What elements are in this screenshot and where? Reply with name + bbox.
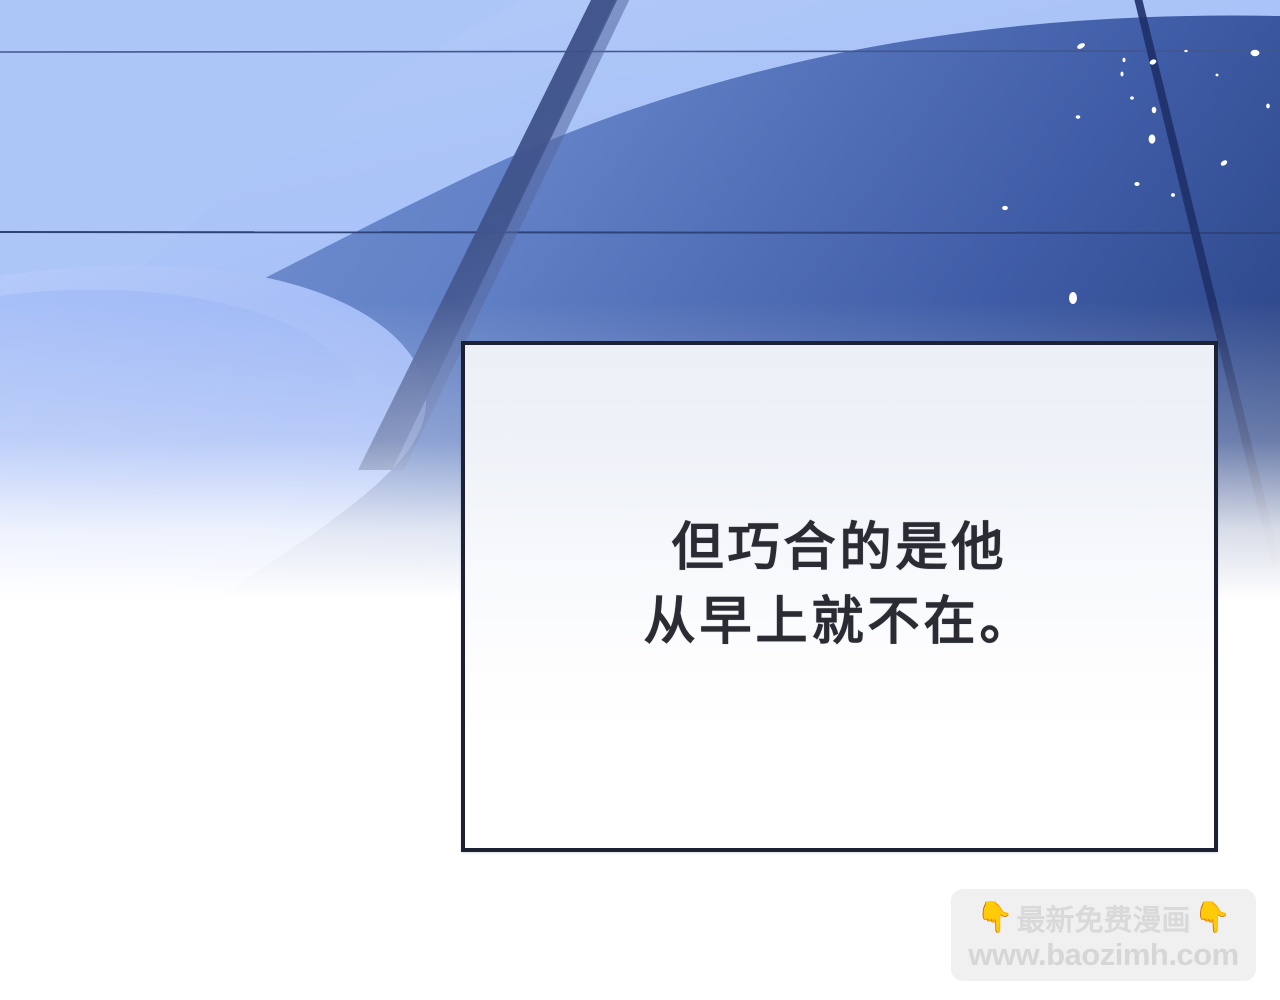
sparkle-icon xyxy=(1216,74,1219,77)
sparkle-icon xyxy=(1134,182,1139,186)
watermark-title: 最新免费漫画 xyxy=(1016,897,1190,939)
sparkle-icon xyxy=(1251,50,1260,56)
sparkle-icon xyxy=(1149,134,1156,143)
sparkle-icon xyxy=(1130,96,1134,99)
pointing-down-hand-right-icon: 👇 xyxy=(1194,903,1231,933)
narration-panel: 但巧合的是他 从早上就不在。 xyxy=(461,341,1218,852)
watermark-title-row: 👇 最新免费漫画 👇 xyxy=(976,898,1231,938)
sparkle-icon xyxy=(1171,193,1175,197)
watermark-badge[interactable]: 👇 最新免费漫画 👇 www.baozimh.com xyxy=(951,889,1256,981)
sparkle-icon xyxy=(1002,206,1008,210)
pointing-down-hand-left-icon: 👇 xyxy=(976,903,1013,933)
sparkle-icon xyxy=(1266,104,1270,109)
sparkle-icon xyxy=(1076,115,1081,119)
narration-text: 但巧合的是他 从早上就不在。 xyxy=(465,512,1214,660)
sparkle-icon xyxy=(1121,72,1124,77)
sparkle-icon xyxy=(1069,292,1077,304)
panel-top-border xyxy=(461,341,1218,345)
sparkle-icon xyxy=(1123,58,1126,62)
watermark-url[interactable]: www.baozimh.com xyxy=(968,938,1238,972)
sparkle-icon xyxy=(1152,107,1157,113)
sparkle-icon xyxy=(1184,50,1187,52)
comic-page: 但巧合的是他 从早上就不在。 👇 最新免费漫画 👇 www.baozimh.co… xyxy=(0,0,1280,1000)
